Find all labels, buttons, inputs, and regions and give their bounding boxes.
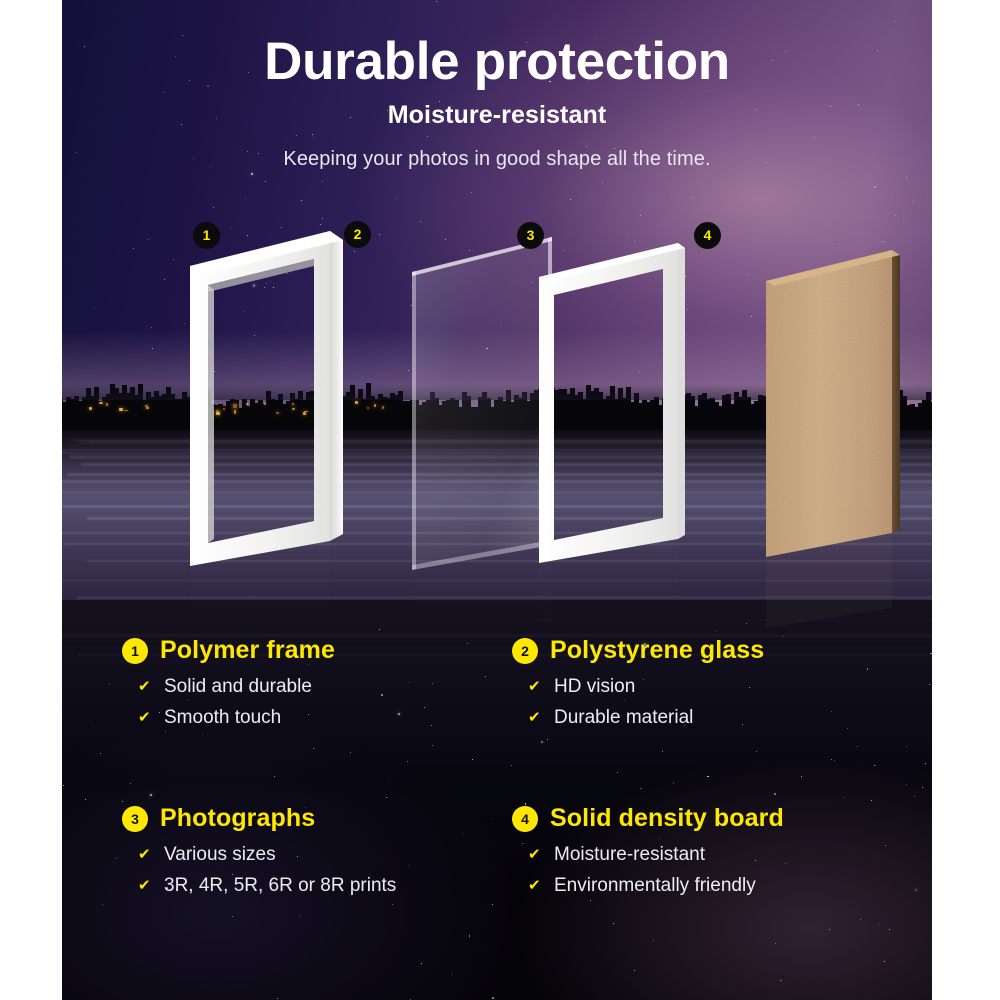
part-polystyrene-glass [412,237,552,570]
star [277,998,278,999]
feature-bullet: ✔3R, 4R, 5R, 6R or 8R prints [138,873,522,899]
feature-block-4: 4Solid density board✔Moisture-resistant✔… [512,804,912,904]
feature-bullet-text: Durable material [554,705,693,731]
page-tagline: Keeping your photos in good shape all th… [62,148,932,171]
diagram-badge-density-board: 4 [694,222,721,249]
feature-bullet-text: 3R, 4R, 5R, 6R or 8R prints [164,873,396,899]
board-grain [762,245,902,565]
feature-bullet: ✔Smooth touch [138,705,522,731]
feature-title: Polystyrene glass [550,636,764,665]
feature-bullet: ✔Durable material [528,705,912,731]
check-icon: ✔ [138,842,164,868]
feature-badge-3: 3 [122,806,148,832]
feature-block-1: 1Polymer frame✔Solid and durable✔Smooth … [122,636,522,736]
infographic-stage: 1234 Durable protection Moisture-resista… [0,0,1000,1000]
feature-heading: 2Polystyrene glass [512,636,912,665]
feature-badge-4: 4 [512,806,538,832]
feature-badge-1: 1 [122,638,148,664]
feature-bullet: ✔Various sizes [138,842,522,868]
feature-title: Solid density board [550,804,784,833]
feature-block-2: 2Polystyrene glass✔HD vision✔Durable mat… [512,636,912,736]
feature-bullet-text: Various sizes [164,842,276,868]
mat-face [539,243,678,563]
feature-title: Polymer frame [160,636,335,665]
feature-bullet-text: HD vision [554,674,635,700]
feature-heading: 1Polymer frame [122,636,522,665]
diagram-badge-polystyrene-glass: 2 [344,221,371,248]
page-subtitle: Moisture-resistant [62,101,932,130]
feature-heading: 4Solid density board [512,804,912,833]
page-title: Durable protection [62,34,932,90]
star [634,970,635,971]
glass-left-edge [412,271,416,570]
star [653,940,654,941]
check-icon: ✔ [528,674,554,700]
check-icon: ✔ [528,842,554,868]
star [451,974,452,975]
header-block: Durable protection Moisture-resistant Ke… [62,0,932,171]
feature-bullet: ✔Moisture-resistant [528,842,912,868]
mat-depth-edge [678,243,685,539]
diagram-badge-polymer-frame: 1 [193,222,220,249]
feature-bullet-text: Environmentally friendly [554,873,756,899]
check-icon: ✔ [138,674,164,700]
part-photograph-mat [539,243,685,563]
feature-list: 1Polymer frame✔Solid and durable✔Smooth … [62,636,932,936]
part-polymer-frame [190,231,343,566]
feature-bullet-text: Moisture-resistant [554,842,705,868]
feature-bullet-text: Smooth touch [164,705,281,731]
diagram-badge-photograph-mat: 3 [517,222,544,249]
glass-sheet [412,237,552,570]
part-density-board [762,245,902,565]
feature-bullet: ✔Solid and durable [138,674,522,700]
check-icon: ✔ [528,873,554,899]
star [775,943,776,944]
frame-depth-edge [330,231,343,541]
star [492,997,494,999]
check-icon: ✔ [138,705,164,731]
feature-bullet-text: Solid and durable [164,674,312,700]
star [421,963,422,964]
feature-badge-2: 2 [512,638,538,664]
feature-block-3: 3Photographs✔Various sizes✔3R, 4R, 5R, 6… [122,804,522,904]
feature-title: Photographs [160,804,315,833]
star [884,961,885,962]
star [780,980,782,982]
frame-inner-left [208,285,214,543]
check-icon: ✔ [528,705,554,731]
check-icon: ✔ [138,873,164,899]
board-edge [892,250,900,533]
feature-heading: 3Photographs [122,804,522,833]
feature-bullet: ✔HD vision [528,674,912,700]
feature-bullet: ✔Environmentally friendly [528,873,912,899]
